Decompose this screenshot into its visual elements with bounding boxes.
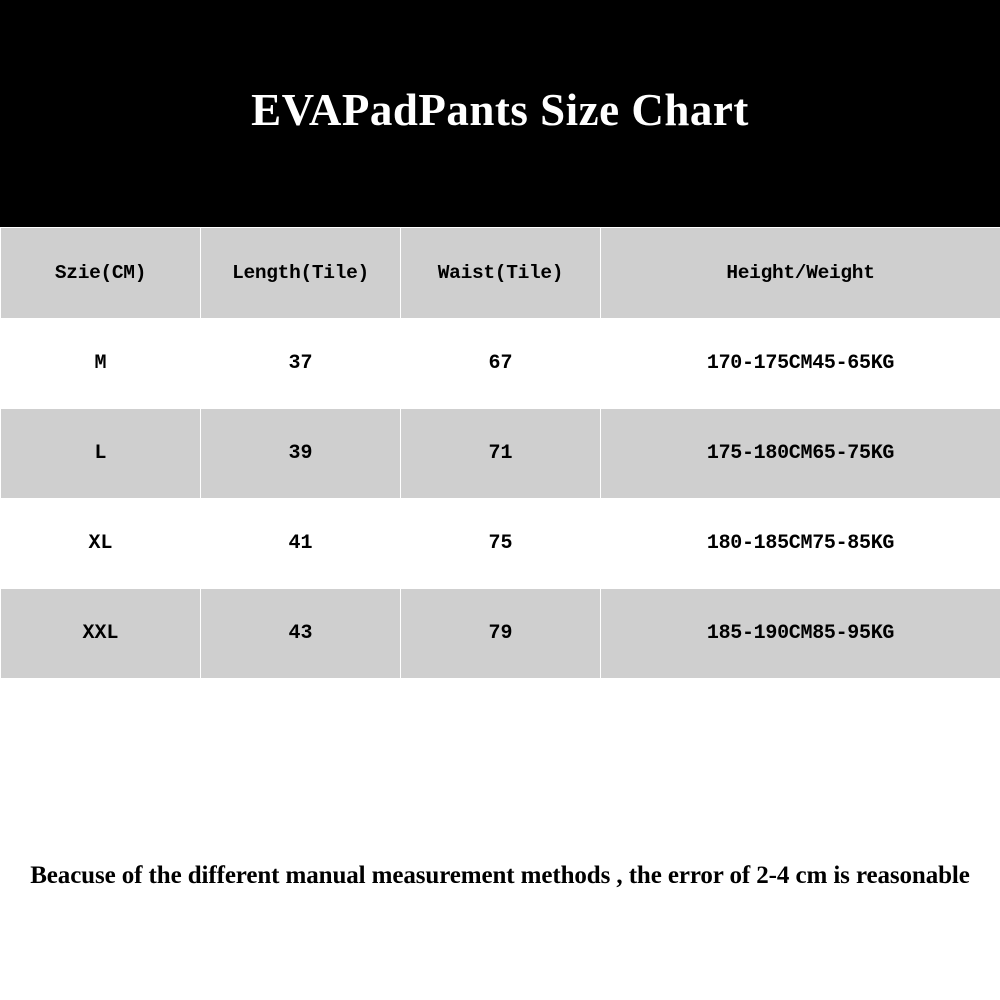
cell-height-weight: 180-185CM75-85KG bbox=[601, 499, 1000, 589]
page-title: EVAPadPants Size Chart bbox=[251, 88, 749, 133]
table-row: L 39 71 175-180CM65-75KG bbox=[1, 409, 1000, 499]
table-header-row: Szie(CM) Length(Tile) Waist(Tile) Height… bbox=[1, 228, 1000, 319]
cell-height-weight: 170-175CM45-65KG bbox=[601, 319, 1000, 409]
cell-height: 175-180CM bbox=[707, 442, 812, 465]
header-cell-size: Szie(CM) bbox=[1, 228, 201, 319]
cell-height: 170-175CM bbox=[707, 352, 812, 375]
header-cell-waist: Waist(Tile) bbox=[401, 228, 601, 319]
cell-waist: 71 bbox=[401, 409, 601, 499]
cell-height-weight: 175-180CM65-75KG bbox=[601, 409, 1000, 499]
cell-length: 41 bbox=[201, 499, 401, 589]
cell-length: 37 bbox=[201, 319, 401, 409]
header-cell-length: Length(Tile) bbox=[201, 228, 401, 319]
measurement-disclaimer: Beacuse of the different manual measurem… bbox=[0, 862, 1000, 890]
cell-weight: 85-95KG bbox=[812, 622, 894, 645]
cell-weight: 65-75KG bbox=[812, 442, 894, 465]
table-row: XL 41 75 180-185CM75-85KG bbox=[1, 499, 1000, 589]
cell-waist: 67 bbox=[401, 319, 601, 409]
cell-height: 180-185CM bbox=[707, 532, 812, 555]
title-bar: EVAPadPants Size Chart bbox=[0, 0, 1000, 227]
size-chart-page: EVAPadPants Size Chart Szie(CM) Length(T… bbox=[0, 0, 1000, 1000]
cell-height-weight: 185-190CM85-95KG bbox=[601, 589, 1000, 679]
size-chart-table: Szie(CM) Length(Tile) Waist(Tile) Height… bbox=[0, 227, 1000, 679]
table-row: M 37 67 170-175CM45-65KG bbox=[1, 319, 1000, 409]
cell-size: M bbox=[1, 319, 201, 409]
cell-size: XXL bbox=[1, 589, 201, 679]
cell-waist: 79 bbox=[401, 589, 601, 679]
table-row: XXL 43 79 185-190CM85-95KG bbox=[1, 589, 1000, 679]
cell-waist: 75 bbox=[401, 499, 601, 589]
cell-length: 39 bbox=[201, 409, 401, 499]
cell-weight: 75-85KG bbox=[812, 532, 894, 555]
cell-weight: 45-65KG bbox=[812, 352, 894, 375]
cell-height: 185-190CM bbox=[707, 622, 812, 645]
header-cell-height-weight: Height/Weight bbox=[601, 228, 1000, 319]
cell-size: XL bbox=[1, 499, 201, 589]
cell-size: L bbox=[1, 409, 201, 499]
cell-length: 43 bbox=[201, 589, 401, 679]
